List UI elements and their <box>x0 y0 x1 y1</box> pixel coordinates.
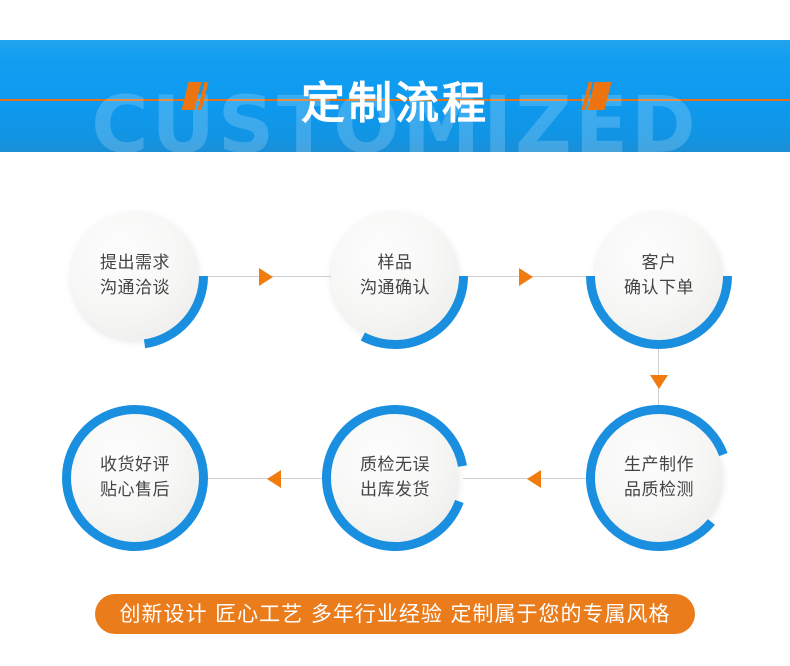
flow-step-5-line2: 出库发货 <box>360 478 430 503</box>
arrow-step1-to-step2-icon <box>259 268 273 286</box>
flow-step-2-line2: 沟通确认 <box>360 276 430 301</box>
flow-step-6[interactable]: 收货好评 贴心售后 <box>71 414 199 542</box>
flow-step-1-line1: 提出需求 <box>100 251 170 276</box>
flow-step-6-line2: 贴心售后 <box>100 478 170 503</box>
flow-step-3-line2: 确认下单 <box>624 276 694 301</box>
flow-step-5-label: 质检无误 出库发货 <box>331 414 459 542</box>
flow-step-2[interactable]: 样品 沟通确认 <box>331 212 459 340</box>
flow-step-6-label: 收货好评 贴心售后 <box>71 414 199 542</box>
flow-step-3-line1: 客户 <box>642 251 677 276</box>
flow-step-1-line2: 沟通洽谈 <box>100 276 170 301</box>
flow-step-4[interactable]: 生产制作 品质检测 <box>595 414 723 542</box>
page-root: CUSTOMIZED 定制流程 提出需求 <box>0 0 790 666</box>
process-flow-diagram: 提出需求 沟通洽谈 样品 沟通确认 客户 确认下单 <box>0 152 790 572</box>
flow-step-2-label: 样品 沟通确认 <box>331 212 459 340</box>
flow-step-4-line1: 生产制作 <box>624 453 694 478</box>
footer-slogan-text: 创新设计 匠心工艺 多年行业经验 定制属于您的专属风格 <box>119 594 670 634</box>
arrow-step4-to-step5-icon <box>527 470 541 488</box>
flow-step-4-label: 生产制作 品质检测 <box>595 414 723 542</box>
arrow-step3-to-step4-icon <box>650 375 668 389</box>
flow-step-2-line1: 样品 <box>378 251 413 276</box>
flow-step-3-label: 客户 确认下单 <box>595 212 723 340</box>
flow-step-6-line1: 收货好评 <box>100 453 170 478</box>
flow-step-1-label: 提出需求 沟通洽谈 <box>71 212 199 340</box>
flow-step-5[interactable]: 质检无误 出库发货 <box>331 414 459 542</box>
flow-step-4-line2: 品质检测 <box>624 478 694 503</box>
arrow-step2-to-step3-icon <box>519 268 533 286</box>
flow-step-3[interactable]: 客户 确认下单 <box>595 212 723 340</box>
arrow-step5-to-step6-icon <box>267 470 281 488</box>
flow-step-5-line1: 质检无误 <box>360 453 430 478</box>
footer-slogan-banner: 创新设计 匠心工艺 多年行业经验 定制属于您的专属风格 <box>95 594 695 634</box>
flow-step-1[interactable]: 提出需求 沟通洽谈 <box>71 212 199 340</box>
page-title: 定制流程 <box>0 78 790 130</box>
